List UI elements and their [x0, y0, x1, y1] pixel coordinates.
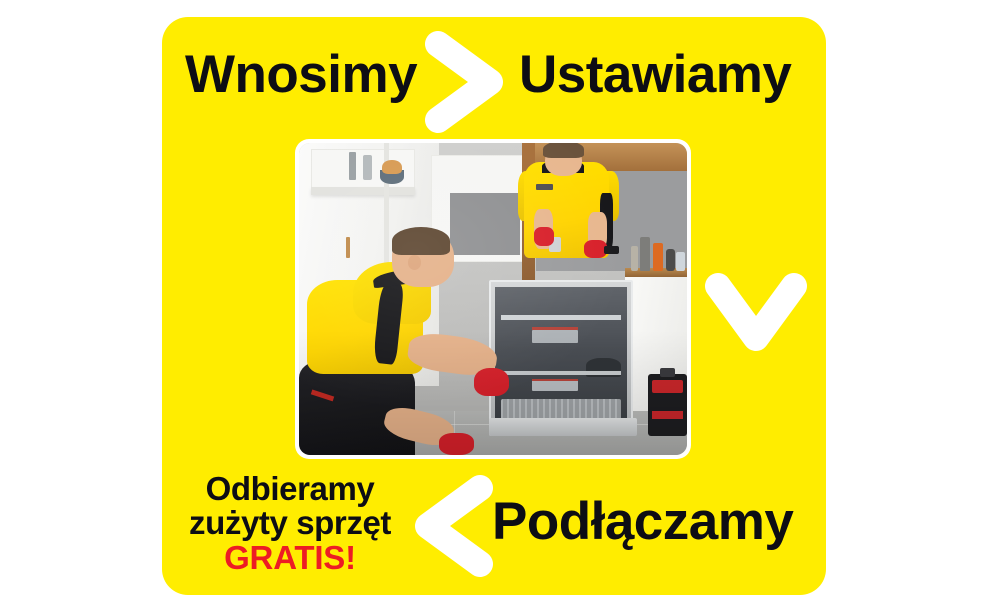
shelf-bottle-a — [349, 152, 355, 180]
heading-wnosimy: Wnosimy — [185, 48, 417, 101]
pickup-line-1: Odbieramy — [178, 472, 402, 506]
toolbox-red-panel-bottom — [652, 411, 683, 418]
worker-back-glove-left — [534, 227, 554, 246]
toolbox-handle — [660, 368, 676, 377]
worker-back-hair — [543, 143, 584, 158]
shelf-bread — [382, 160, 401, 174]
worker-front-hair — [392, 227, 450, 255]
toolbox-red-panel-top — [652, 380, 683, 392]
dishwasher-upper-rack — [501, 315, 621, 320]
left-shelf-board — [311, 187, 416, 195]
pickup-line-2: zużyty sprzęt — [178, 506, 402, 540]
chevron-left-icon — [410, 470, 502, 582]
pickup-free-badge: GRATIS! — [178, 541, 402, 575]
worker-front-glove-right — [474, 368, 509, 396]
counter-bottle-5 — [631, 246, 639, 271]
dishwasher-upper-tray — [532, 330, 579, 342]
heading-podlaczamy: Podłączamy — [492, 495, 793, 548]
pickup-text-block: Odbieramy zużyty sprzęt GRATIS! — [178, 472, 402, 575]
worker-front-glove-left — [439, 433, 474, 455]
worker-front-ear — [408, 255, 421, 269]
counter-bottle-3 — [666, 249, 675, 271]
chevron-right-icon — [420, 26, 512, 138]
middle-cabinet-back — [450, 193, 520, 255]
worker-back-wristwatch — [604, 246, 620, 254]
dishwasher-rail-upper — [532, 327, 579, 330]
promo-banner-image: Wnosimy Ustawiamy — [0, 0, 1000, 612]
dishwasher-lower-tray — [532, 380, 579, 391]
chevron-down-icon — [700, 268, 812, 360]
counter-bottle-2 — [653, 243, 663, 271]
photo-frame — [295, 139, 691, 459]
shelf-utensil — [346, 237, 351, 259]
dishwasher-lower-rack — [501, 371, 621, 375]
worker-back-logo-badge — [536, 184, 553, 190]
dishwasher-open-door — [489, 418, 636, 437]
kitchen-installation-photo — [299, 143, 687, 455]
heading-ustawiamy: Ustawiamy — [519, 48, 791, 101]
counter-bottle-4 — [676, 252, 685, 271]
shelf-bottle-b — [363, 155, 372, 180]
counter-bottle-1 — [640, 237, 649, 271]
dishwasher-rail-lower — [532, 379, 579, 381]
